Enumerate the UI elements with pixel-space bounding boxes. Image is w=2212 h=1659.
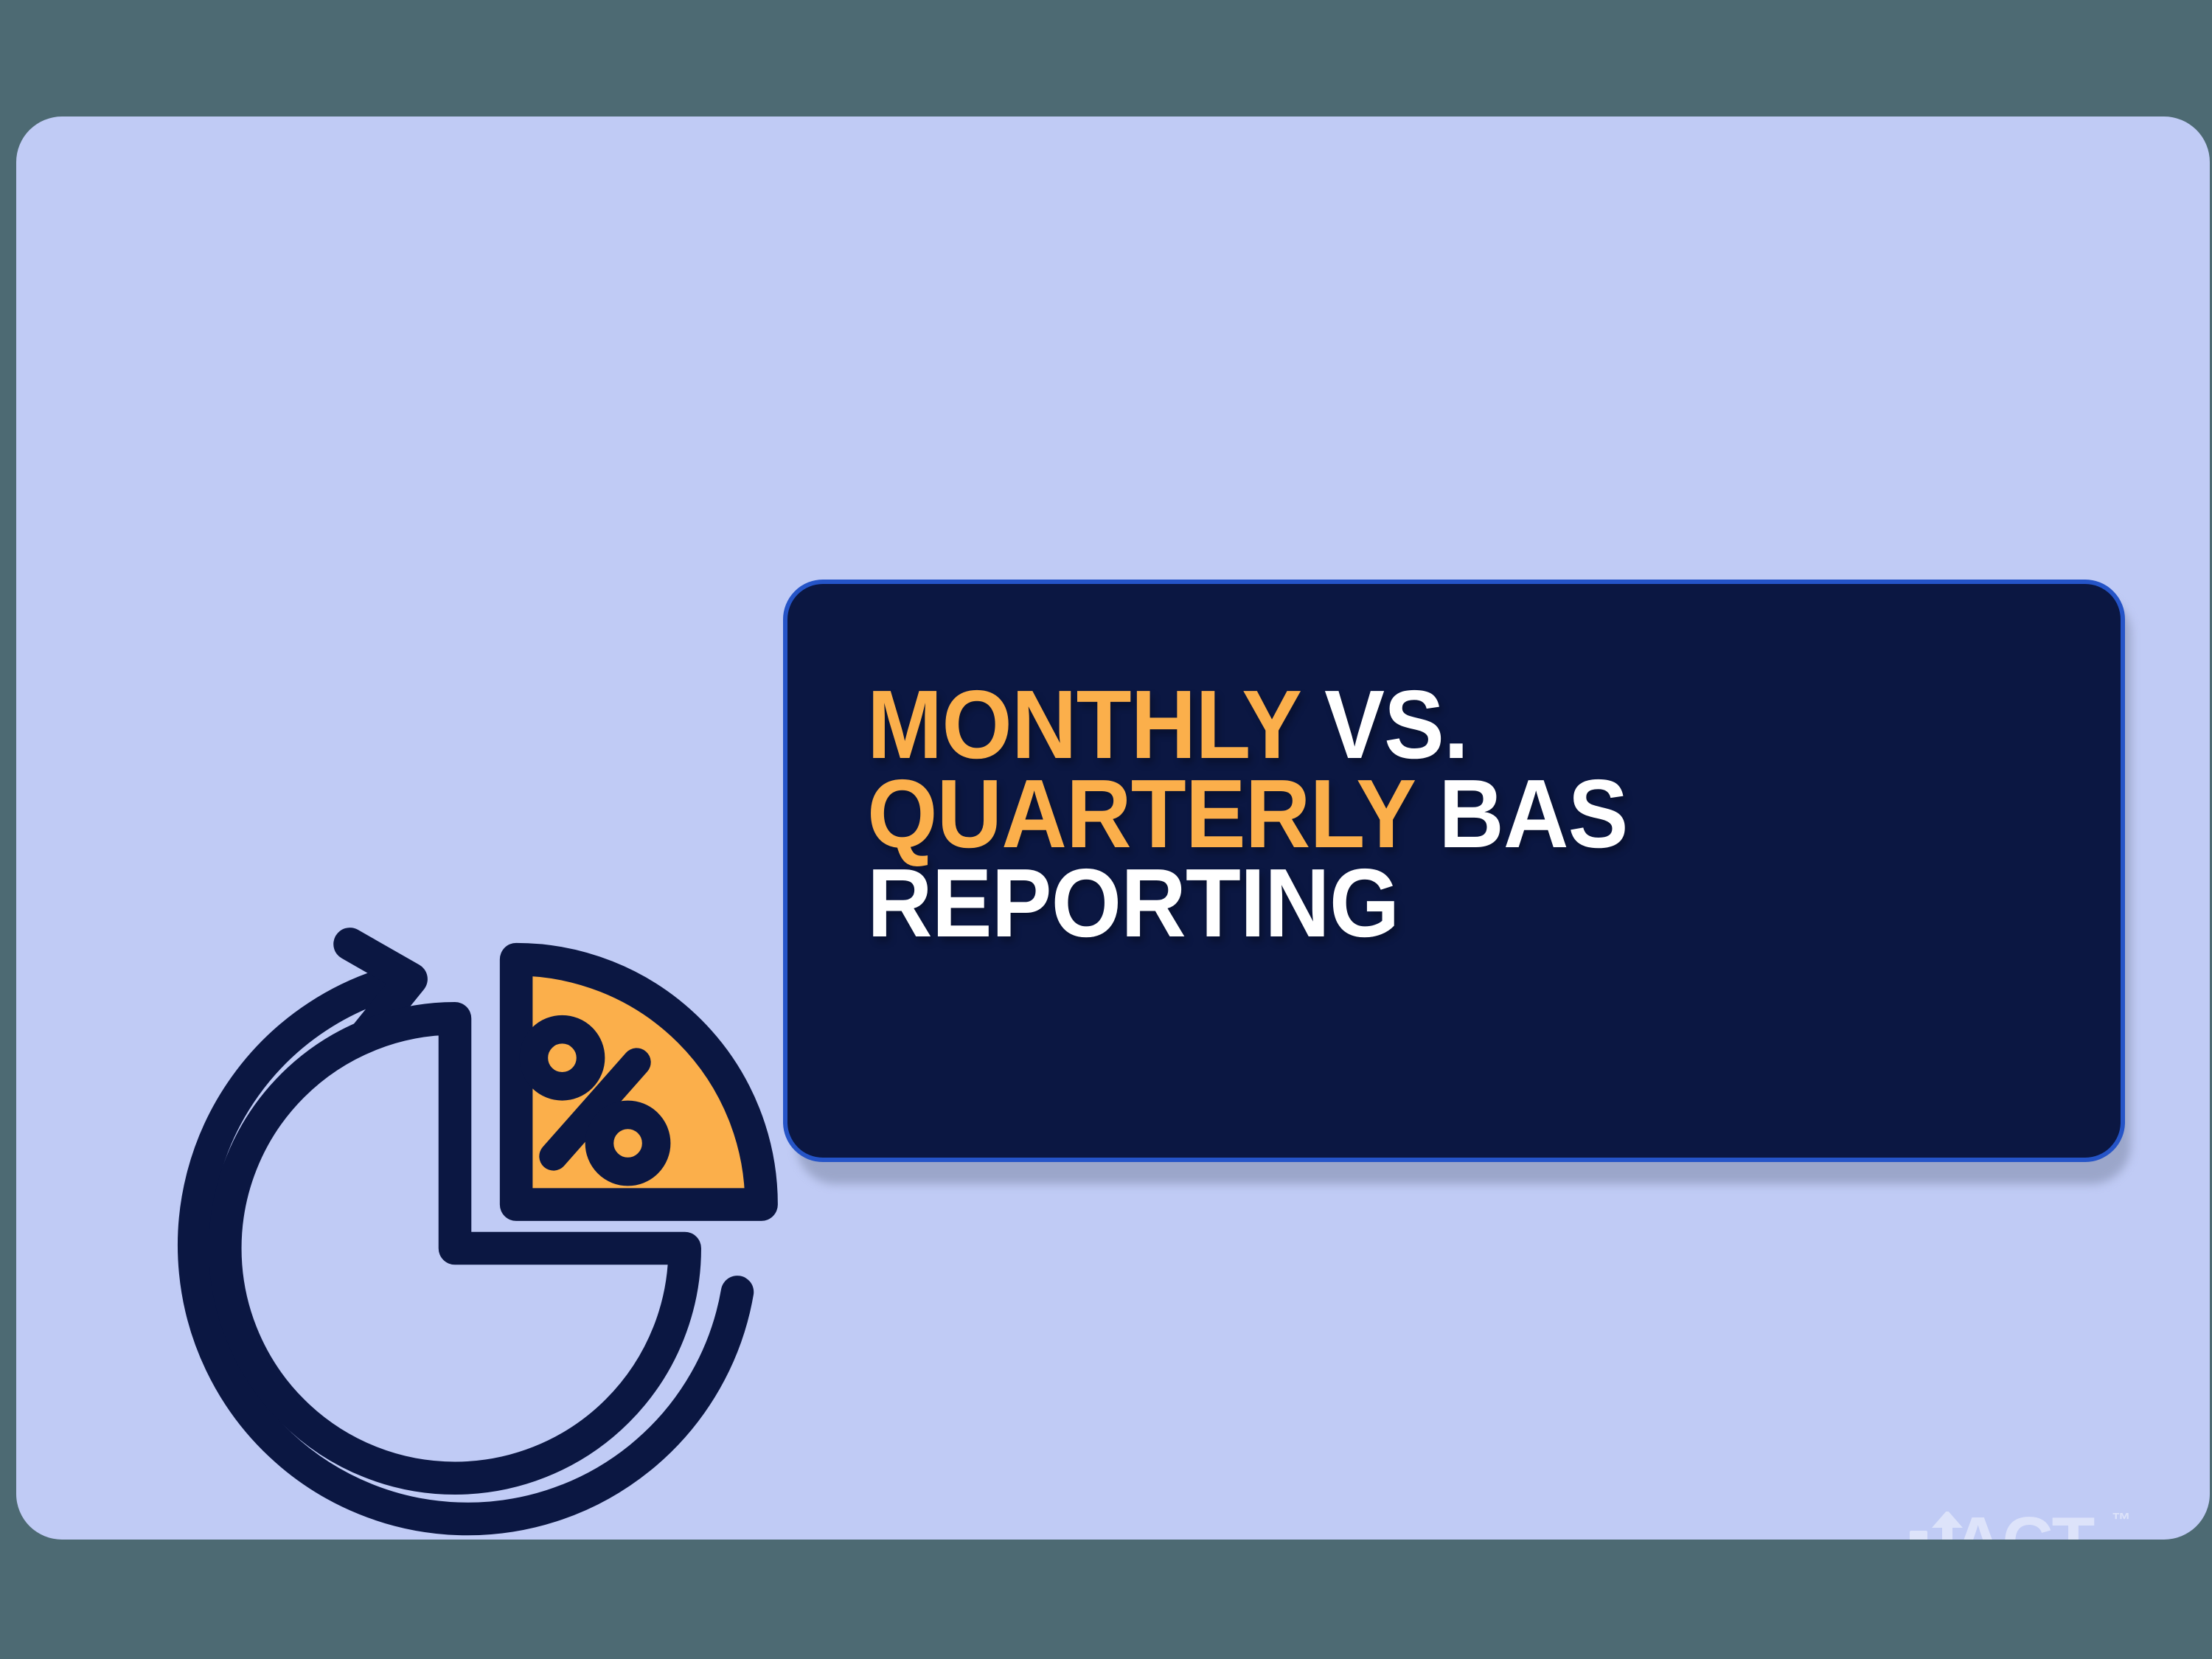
content-card: MONTHLY VS. QUARTERLY BAS REPORTING ACT …: [16, 116, 2210, 1540]
slide-stage: MONTHLY VS. QUARTERLY BAS REPORTING ACT …: [0, 0, 2212, 1659]
headline-line-2-plain: BAS: [1439, 759, 1627, 868]
headline-text-block: MONTHLY VS. QUARTERLY BAS REPORTING: [867, 680, 2091, 947]
pie-chart-refresh-icon: [105, 898, 805, 1540]
headline-panel: MONTHLY VS. QUARTERLY BAS REPORTING: [783, 580, 2125, 1162]
headline-line-3: REPORTING: [867, 858, 2006, 947]
act-tax-group-logo: ACT ™ TAX GROUP: [1868, 1512, 2178, 1540]
headline-line-3-plain: REPORTING: [867, 849, 1399, 957]
headline-line-2: QUARTERLY BAS: [867, 769, 2006, 858]
logo-trademark-icon: ™: [2112, 1510, 2131, 1529]
headline-line-1: MONTHLY VS.: [867, 680, 2006, 769]
logo-wordmark: ACT: [1952, 1507, 2093, 1540]
